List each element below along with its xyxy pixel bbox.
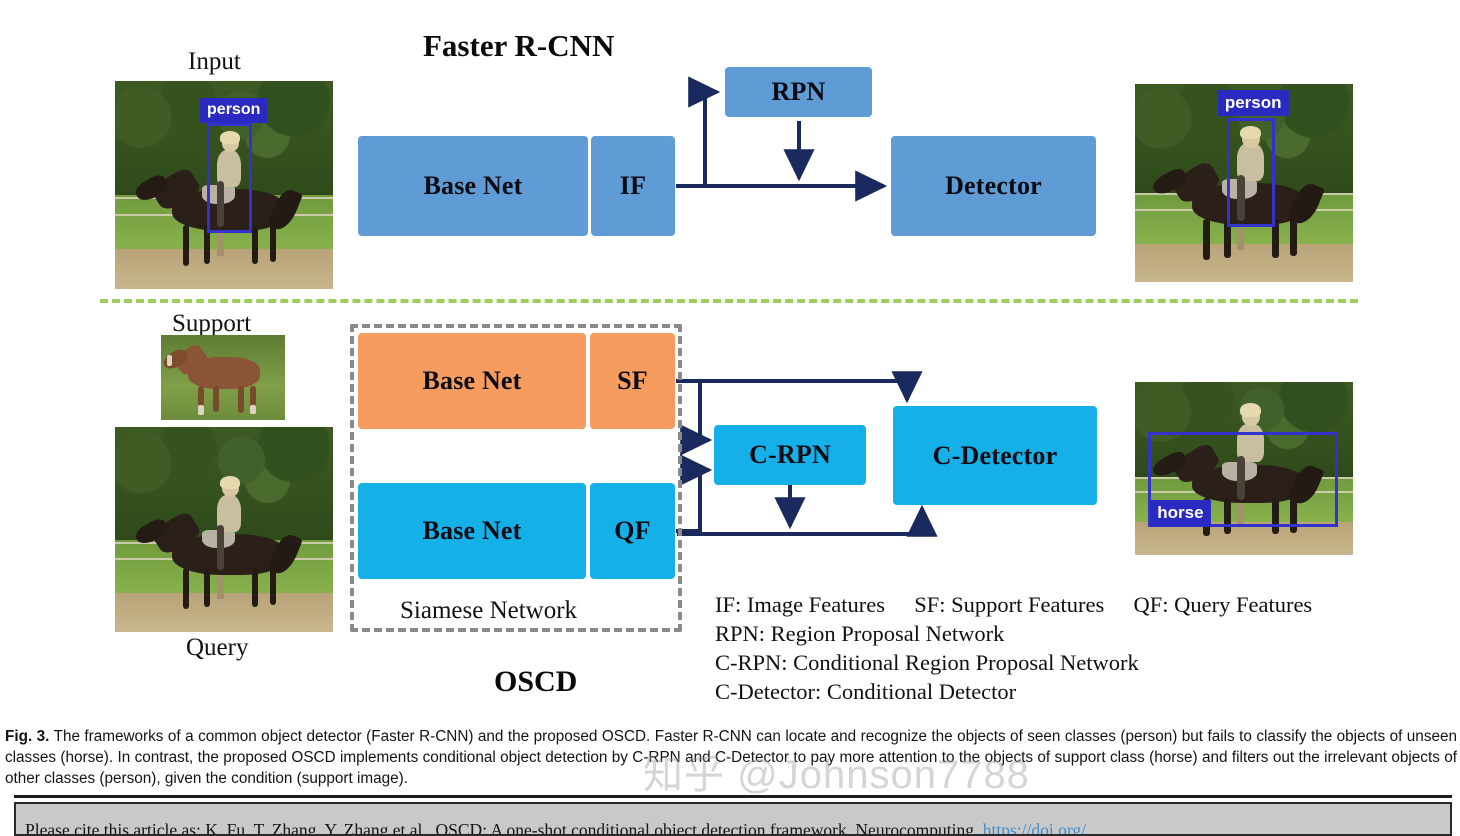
block-sf[interactable]: SF (590, 333, 675, 429)
block-detector[interactable]: Detector (891, 136, 1096, 236)
legend-block: IF: Image Features SF: Support Features … (715, 590, 1312, 706)
input-image: person (115, 81, 333, 289)
faster-rcnn-title: Faster R-CNN (423, 28, 614, 64)
citation-text: Please cite this article as: K. Fu, T. Z… (25, 820, 978, 836)
caption-prefix: Fig. 3. (5, 728, 49, 745)
figure-canvas: Faster R-CNN Input person Base Net IF RP… (0, 0, 1460, 836)
caption-text: The frameworks of a common object detect… (5, 728, 1457, 787)
output-image-faster: person (1135, 84, 1353, 282)
query-image (115, 427, 333, 632)
block-rpn[interactable]: RPN (725, 67, 872, 117)
legend-c-rpn: C-RPN: Conditional Region Proposal Netwo… (715, 648, 1312, 677)
detection-box-person-output (1227, 118, 1275, 227)
block-c-detector[interactable]: C-Detector (893, 406, 1097, 505)
block-if[interactable]: IF (591, 136, 675, 236)
detection-label-person: person (200, 98, 267, 123)
block-qf[interactable]: QF (590, 483, 675, 579)
block-base-net-faster[interactable]: Base Net (358, 136, 588, 236)
detection-label-person-output: person (1218, 90, 1289, 116)
support-image-label: Support (172, 310, 251, 338)
legend-if: IF: Image Features (715, 592, 885, 617)
block-base-net-query[interactable]: Base Net (358, 483, 586, 579)
block-base-net-support[interactable]: Base Net (358, 333, 586, 429)
detection-box-person (207, 123, 253, 233)
detection-label-horse: horse (1150, 500, 1210, 526)
block-c-rpn[interactable]: C-RPN (714, 425, 866, 485)
oscd-title: OSCD (494, 665, 577, 699)
output-image-oscd: horse (1135, 382, 1353, 555)
figure-caption: Fig. 3. The frameworks of a common objec… (5, 726, 1457, 789)
support-image (161, 335, 285, 420)
legend-qf: QF: Query Features (1133, 592, 1312, 617)
query-image-label: Query (186, 634, 248, 662)
siamese-network-caption: Siamese Network (400, 597, 577, 625)
legend-c-detector: C-Detector: Conditional Detector (715, 677, 1312, 706)
citation-bar: Please cite this article as: K. Fu, T. Z… (14, 802, 1452, 836)
citation-text-wrap: Please cite this article as: K. Fu, T. Z… (25, 820, 1086, 836)
legend-rpn: RPN: Region Proposal Network (715, 619, 1312, 648)
section-divider (100, 299, 1358, 303)
citation-link[interactable]: https://doi.org/ (983, 820, 1086, 836)
legend-sf: SF: Support Features (914, 592, 1104, 617)
input-image-label: Input (188, 48, 241, 76)
citation-top-rule (14, 795, 1452, 798)
legend-line-1: IF: Image Features SF: Support Features … (715, 590, 1312, 619)
